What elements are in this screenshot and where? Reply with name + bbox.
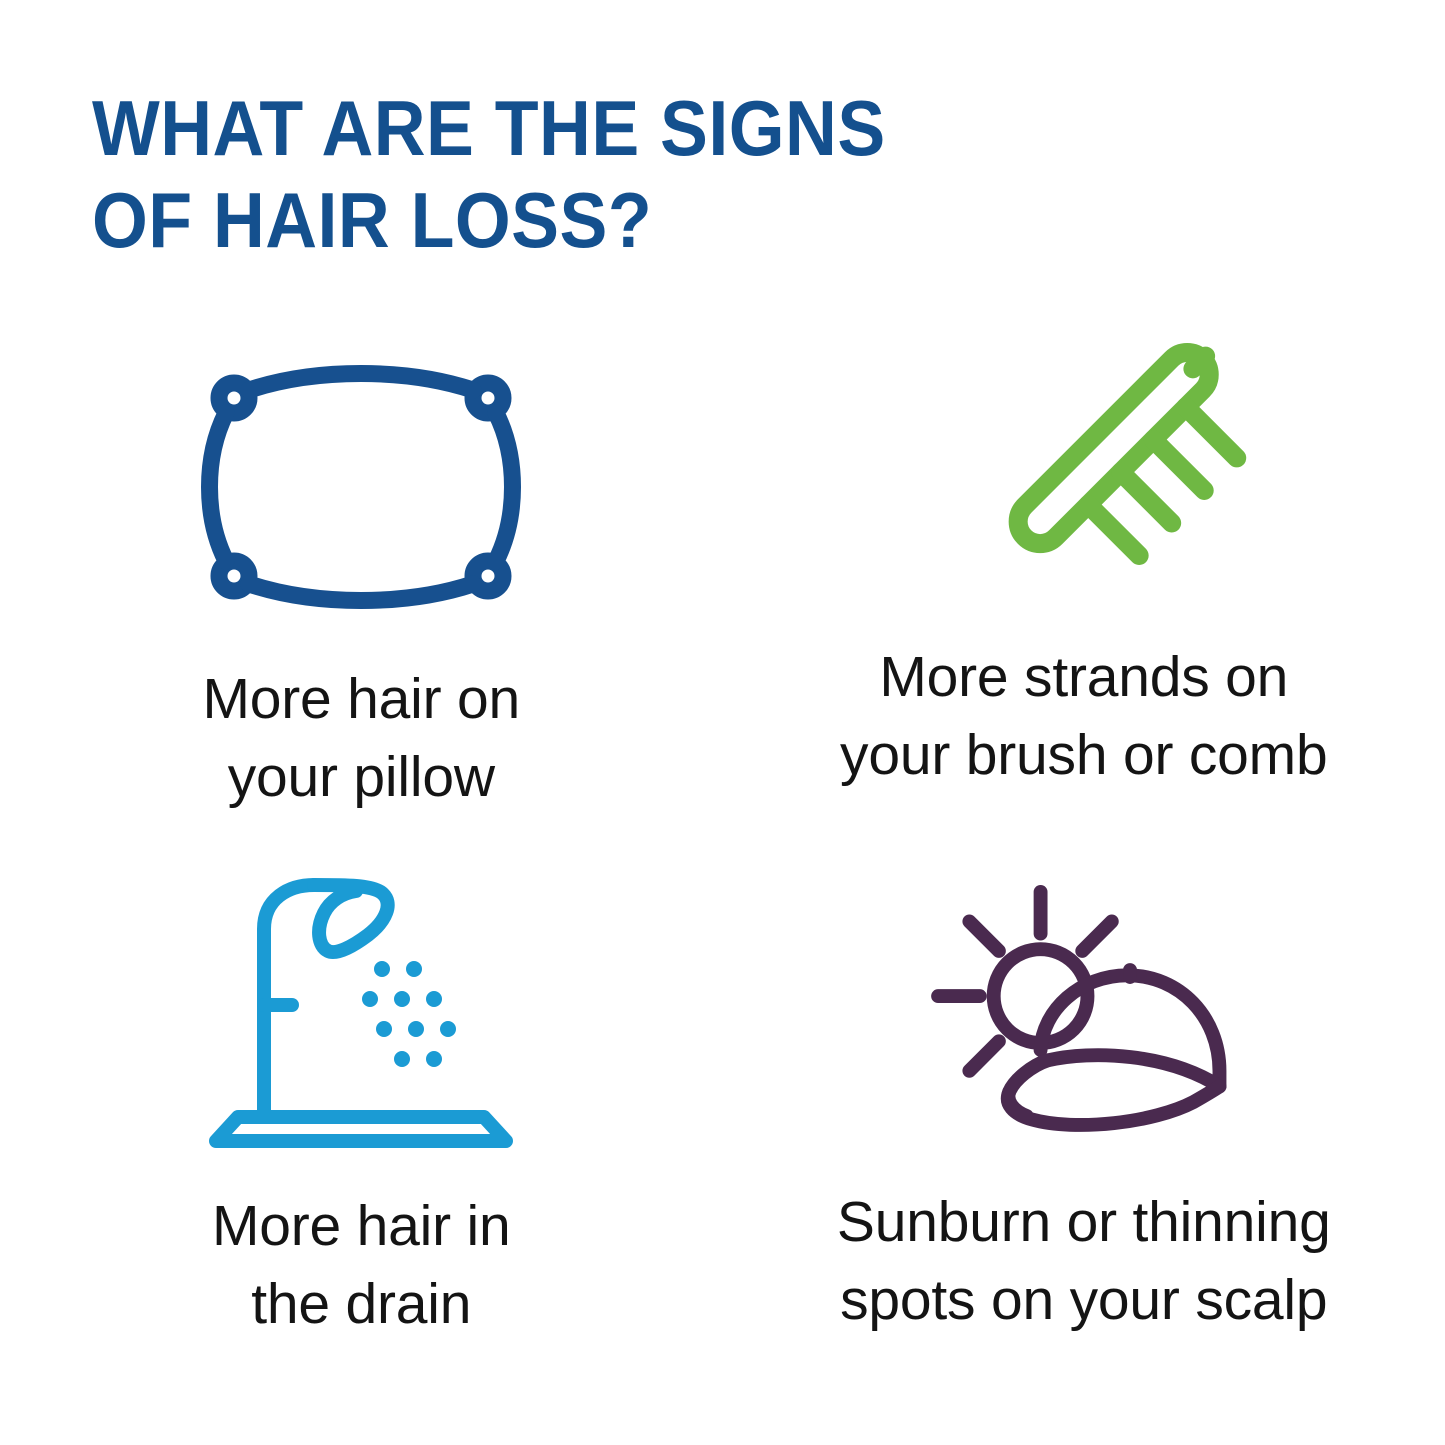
caption-line: More hair on xyxy=(202,660,520,738)
caption-line: Sunburn or thinning xyxy=(837,1183,1331,1261)
caption-line: More hair in xyxy=(212,1187,511,1265)
hair-loss-signs-poster: WHAT ARE THE SIGNS OF HAIR LOSS? xyxy=(0,0,1445,1445)
sign-item-cap: Sunburn or thinning spots on your scalp xyxy=(723,845,1445,1390)
caption-line: your brush or comb xyxy=(840,716,1327,794)
sign-item-comb: More strands on your brush or comb xyxy=(723,300,1445,845)
page-title-line-2: OF HAIR LOSS? xyxy=(92,174,1086,266)
page-title-line-1: WHAT ARE THE SIGNS xyxy=(92,82,1086,174)
caption-line: spots on your scalp xyxy=(837,1261,1331,1339)
sign-caption-pillow: More hair on your pillow xyxy=(202,660,520,816)
sign-item-pillow: More hair on your pillow xyxy=(0,300,723,845)
caption-line: More strands on xyxy=(840,638,1327,716)
comb-icon xyxy=(919,310,1249,620)
shower-icon xyxy=(196,855,526,1169)
caption-line: the drain xyxy=(212,1265,511,1343)
sign-caption-comb: More strands on your brush or comb xyxy=(840,638,1327,794)
sign-item-shower: More hair in the drain xyxy=(0,845,723,1390)
sign-caption-cap: Sunburn or thinning spots on your scalp xyxy=(837,1183,1331,1339)
caption-line: your pillow xyxy=(202,738,520,816)
sun-and-cap-icon xyxy=(919,855,1249,1165)
sign-caption-shower: More hair in the drain xyxy=(212,1187,511,1343)
pillow-icon xyxy=(196,310,526,642)
page-title: WHAT ARE THE SIGNS OF HAIR LOSS? xyxy=(92,82,1172,266)
signs-grid: More hair on your pillow xyxy=(0,300,1445,1390)
